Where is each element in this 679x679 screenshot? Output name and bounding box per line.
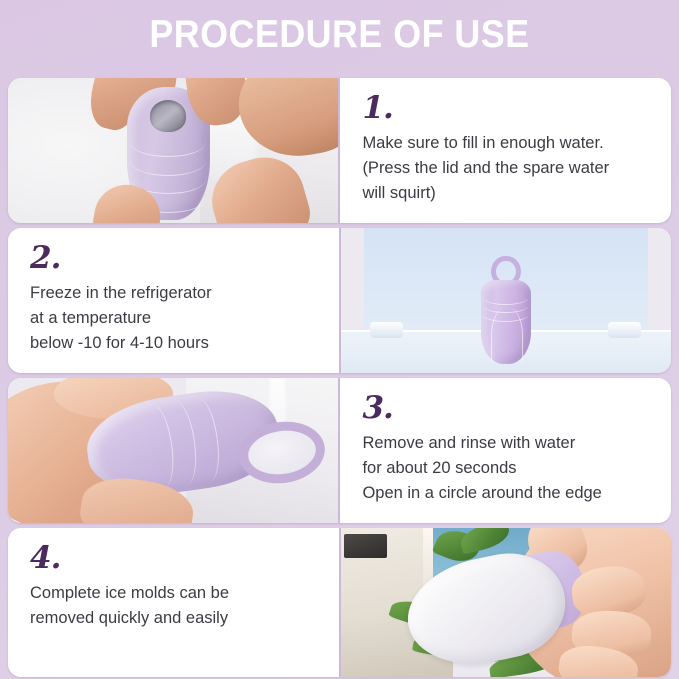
mold-rib-shape: [130, 127, 206, 157]
step-1-number: 1.: [362, 91, 655, 125]
plant-leaf-shape: [388, 594, 471, 641]
step-2-text: 2. Freeze in the refrigerator at a tempe…: [8, 228, 339, 373]
finger-shape: [521, 528, 593, 580]
finger-shape: [570, 563, 647, 618]
step-4-line-1: Complete ice molds can be: [30, 581, 323, 606]
water-stream-shape: [200, 78, 265, 188]
finger-shape: [77, 472, 197, 523]
mold-rib-shape: [185, 397, 224, 484]
white-ice-mold-shape: [398, 542, 575, 677]
knuckle-shape: [54, 378, 173, 419]
step-1-line-3: will squirt): [362, 181, 655, 206]
step-3-number: 3.: [362, 391, 655, 425]
finger-shape: [203, 148, 316, 223]
background-surface-shape: [186, 378, 338, 523]
freezer-shelf-line: [341, 330, 671, 332]
step-2-line-1: Freeze in the refrigerator: [30, 281, 323, 306]
finger-shape: [571, 610, 652, 657]
step-3-line-2: for about 20 seconds: [362, 456, 655, 481]
hand-shape: [8, 378, 174, 523]
shadow-shape: [120, 494, 173, 523]
step-4-description: Complete ice molds can be removed quickl…: [30, 581, 323, 631]
water-stream-shape: [269, 378, 286, 465]
step-3-line-3: Open in a circle around the edge: [362, 481, 655, 506]
freezer-floor-shape: [341, 330, 671, 374]
mold-rib-shape: [482, 289, 529, 305]
plant-leaf-shape: [432, 528, 483, 568]
step-2-number: 2.: [30, 241, 323, 275]
mold-seam-shape: [491, 307, 523, 363]
plant-leaf-shape: [488, 648, 563, 677]
step-1-line-1: Make sure to fill in enough water.: [362, 131, 655, 156]
wall-shape: [341, 528, 453, 677]
window-sky-shape: [433, 528, 545, 620]
step-2-line-2: at a temperature: [30, 306, 323, 331]
freezer-back-wall-shape: [364, 228, 648, 332]
mold-opening-shape: [236, 416, 330, 488]
freezer-ledge-shape: [608, 322, 641, 338]
step-1-description: Make sure to fill in enough water. (Pres…: [362, 131, 655, 206]
finger-shape: [84, 78, 154, 135]
step-row-1: 1. Make sure to fill in enough water. (P…: [8, 78, 671, 223]
mold-rib-shape: [482, 297, 529, 313]
step-4-line-2: removed quickly and easily: [30, 606, 323, 631]
step-4-photo: [341, 528, 671, 677]
step-1-line-2: (Press the lid and the spare water: [362, 156, 655, 181]
step-3-description: Remove and rinse with water for about 20…: [362, 431, 655, 506]
lavender-ice-mold-shape: [127, 87, 210, 220]
mold-rib-shape: [130, 164, 206, 194]
step-3-photo: [8, 378, 338, 523]
mold-loop-handle-shape: [491, 256, 521, 288]
dark-panel-shape: [344, 534, 387, 558]
finger-shape: [556, 642, 640, 677]
mold-opening-shape: [150, 100, 186, 132]
mold-rib-shape: [130, 183, 206, 213]
lavender-ice-mold-shape: [481, 280, 531, 364]
finger-shape: [180, 78, 251, 128]
lavender-ice-mold-shape: [82, 383, 285, 504]
finger-shape: [119, 78, 180, 115]
mold-rib-shape: [139, 403, 178, 490]
plant-leaf-shape: [412, 630, 513, 669]
mold-rib-shape: [482, 305, 529, 321]
step-1-photo: [8, 78, 338, 223]
steps-grid: 1. Make sure to fill in enough water. (P…: [8, 78, 671, 677]
step-1-text: 1. Make sure to fill in enough water. (P…: [340, 78, 671, 223]
step-2-description: Freeze in the refrigerator at a temperat…: [30, 281, 323, 356]
step-2-photo: [341, 228, 671, 373]
step-4-text: 4. Complete ice molds can be removed qui…: [8, 528, 339, 677]
sink-basin-shape: [8, 78, 239, 223]
step-row-3: 3. Remove and rinse with water for about…: [8, 378, 671, 523]
step-2-line-3: below -10 for 4-10 hours: [30, 331, 323, 356]
window-frame-shape: [423, 528, 433, 641]
step-4-number: 4.: [30, 541, 323, 575]
hand-shape: [505, 528, 671, 677]
step-3-text: 3. Remove and rinse with water for about…: [340, 378, 671, 523]
freezer-ledge-shape: [370, 322, 403, 338]
step-row-2: 2. Freeze in the refrigerator at a tempe…: [8, 228, 671, 373]
mold-collar-shape: [505, 545, 592, 636]
plant-leaf-shape: [457, 528, 511, 555]
counter-surface-shape: [200, 78, 339, 223]
mold-rib-shape: [162, 400, 201, 487]
finger-shape: [89, 180, 166, 223]
procedure-infographic: PROCEDURE OF USE: [0, 0, 679, 679]
page-title: PROCEDURE OF USE: [27, 13, 652, 57]
step-row-4: 4. Complete ice molds can be removed qui…: [8, 528, 671, 677]
mold-rib-shape: [130, 145, 206, 175]
hand-shape: [231, 78, 338, 166]
step-3-line-1: Remove and rinse with water: [362, 431, 655, 456]
